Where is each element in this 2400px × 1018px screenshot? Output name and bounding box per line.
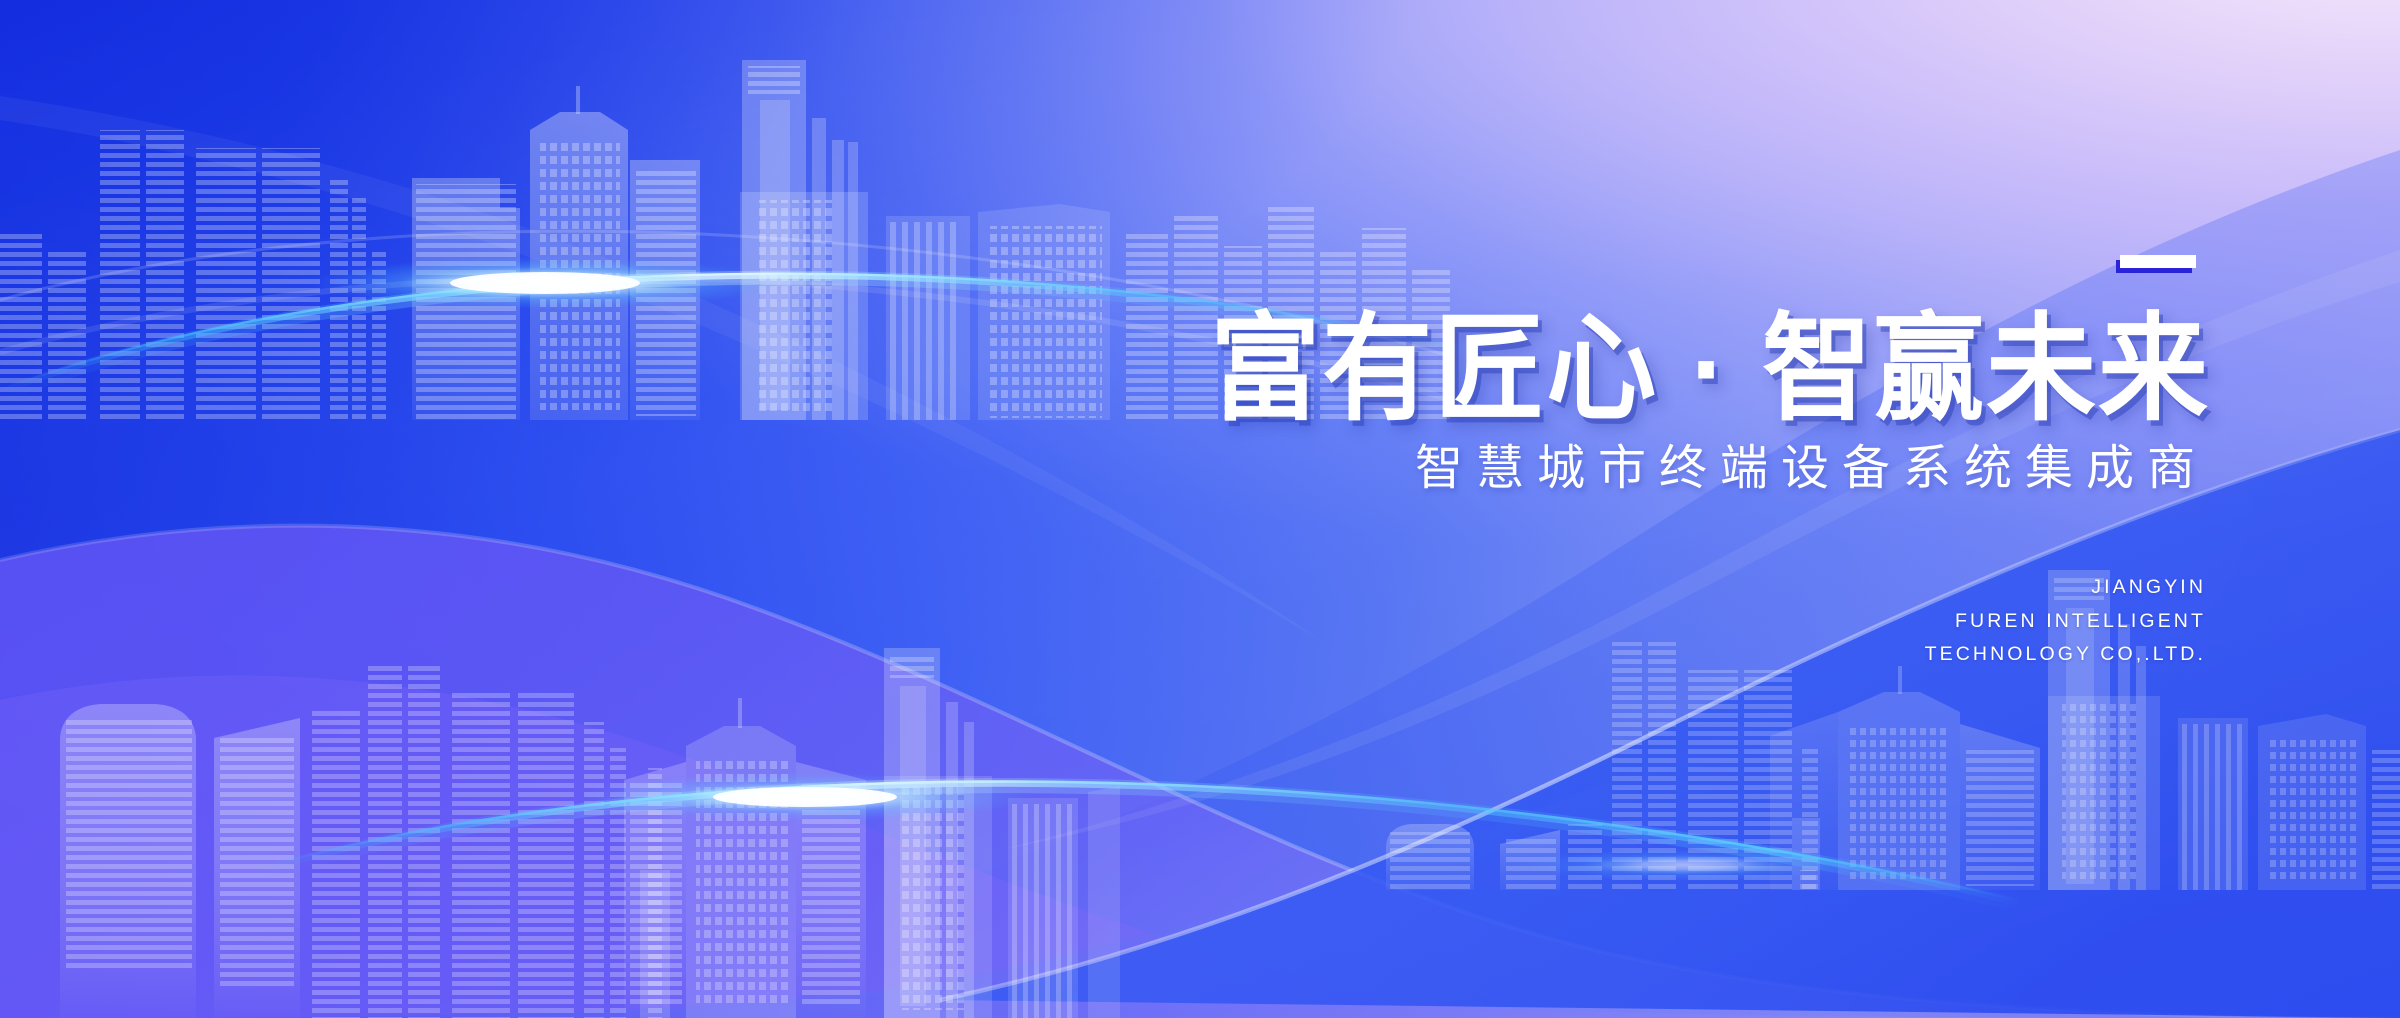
page-subtitle: 智慧城市终端设备系统集成商 <box>1030 439 2210 499</box>
company-suffix-line: TECHNOLOGY CO,.LTD. <box>1030 638 2206 672</box>
hero-banner: 富有匠心 · 智赢未来 智慧城市终端设备系统集成商 JIANGYIN FUREN… <box>0 0 2400 1018</box>
company-city-line: JIANGYIN <box>1030 571 2206 605</box>
company-name-block: JIANGYIN FUREN INTELLIGENT TECHNOLOGY CO… <box>1030 571 2210 672</box>
headline-block: 富有匠心 · 智赢未来 智慧城市终端设备系统集成商 JIANGYIN FUREN… <box>1030 255 2210 672</box>
accent-dash-icon <box>2120 255 2196 268</box>
company-name-line: FUREN INTELLIGENT <box>1030 605 2206 639</box>
page-title: 富有匠心 · 智赢未来 <box>1030 312 2210 429</box>
